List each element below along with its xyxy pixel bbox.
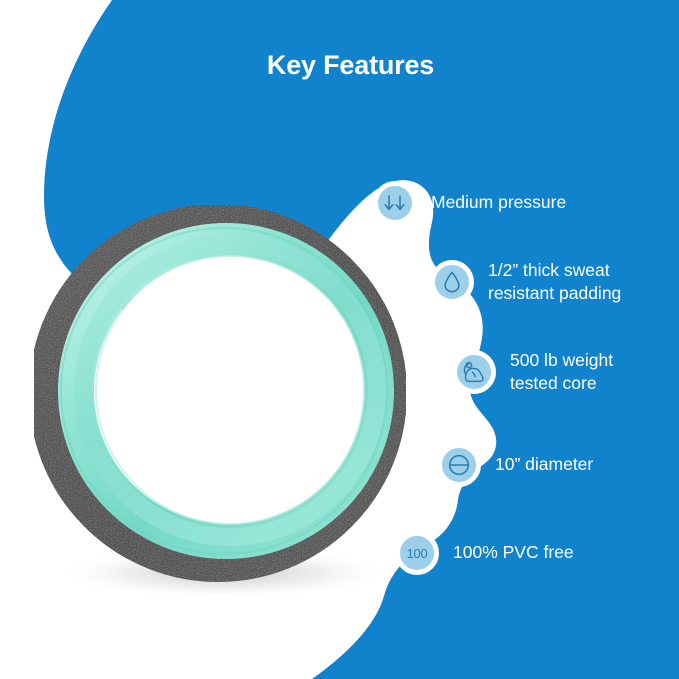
feature-label: 10” diameter [495, 453, 593, 476]
wheel-graphic [34, 205, 406, 595]
feature-label: 500 lb weight tested core [510, 349, 613, 396]
feature-item-medium-pressure: Medium pressure [373, 181, 566, 225]
feature-item-sweat-resistant-padding: 1/2” thick sweat resistant padding [430, 259, 621, 306]
water-drop-icon [430, 260, 474, 304]
feature-label: 100% PVC free [453, 541, 574, 564]
feature-item-weight-tested-core: 500 lb weight tested core [452, 349, 613, 396]
flexed-bicep-icon [452, 350, 496, 394]
page-title: Key Features [0, 50, 679, 81]
feature-item-pvc-free: 100 100% PVC free [395, 531, 574, 575]
one-hundred-icon: 100 [395, 531, 439, 575]
feature-item-diameter: 10” diameter [437, 443, 593, 487]
wheel-inner-hole [96, 256, 364, 524]
feature-label: 1/2” thick sweat resistant padding [488, 259, 621, 306]
circle-diameter-icon [437, 443, 481, 487]
product-image-yoga-wheel [34, 205, 406, 595]
double-down-arrow-icon [373, 181, 417, 225]
feature-label: Medium pressure [431, 191, 566, 214]
infographic-canvas: Key Features [0, 0, 679, 679]
badge-number: 100 [407, 547, 428, 560]
